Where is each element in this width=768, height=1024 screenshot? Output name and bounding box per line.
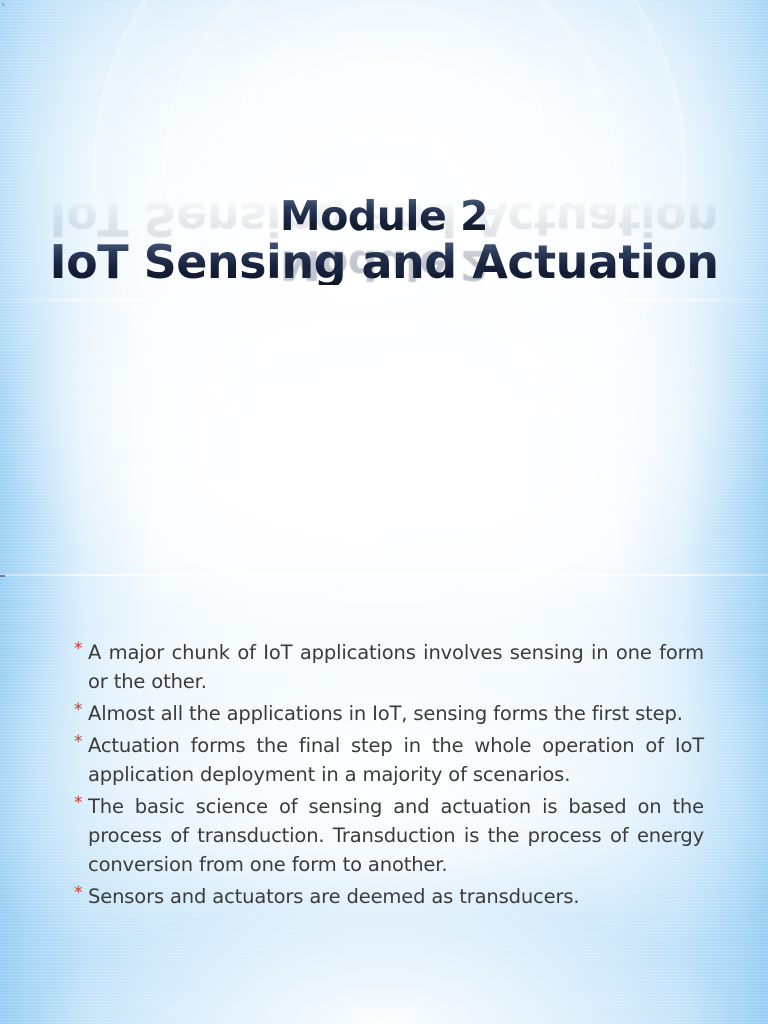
list-item-text: Actuation forms the final step in the wh… <box>88 731 704 789</box>
asterisk-bullet-icon: * <box>74 792 86 814</box>
slide-title-line-2: IoT Sensing and Actuation <box>0 239 768 285</box>
content-panel-seam <box>0 574 768 576</box>
list-item-text: The basic science of sensing and actuati… <box>88 792 704 879</box>
list-item-text: Almost all the applications in IoT, sens… <box>88 699 704 728</box>
list-item-text: Sensors and actuators are deemed as tran… <box>88 882 704 911</box>
asterisk-bullet-icon: * <box>74 731 86 753</box>
slide-title-line-1: Module 2 <box>0 196 768 237</box>
list-item: * The basic science of sensing and actua… <box>74 792 704 879</box>
presentation-slide: Module 2 IoT Sensing and Actuation Modul… <box>0 0 768 1024</box>
edge-artifact-topleft <box>2 3 5 6</box>
list-item: * A major chunk of IoT applications invo… <box>74 638 704 696</box>
asterisk-bullet-icon: * <box>74 882 86 904</box>
title-divider-band <box>0 298 768 301</box>
edge-artifact-left <box>0 575 5 577</box>
list-item: * Almost all the applications in IoT, se… <box>74 699 704 728</box>
list-item: * Sensors and actuators are deemed as tr… <box>74 882 704 911</box>
list-item: * Actuation forms the final step in the … <box>74 731 704 789</box>
slide-title: Module 2 IoT Sensing and Actuation Modul… <box>0 196 768 285</box>
asterisk-bullet-icon: * <box>74 638 86 660</box>
slide-body-bullet-list: * A major chunk of IoT applications invo… <box>74 638 704 914</box>
list-item-text: A major chunk of IoT applications involv… <box>88 638 704 696</box>
asterisk-bullet-icon: * <box>74 699 86 721</box>
